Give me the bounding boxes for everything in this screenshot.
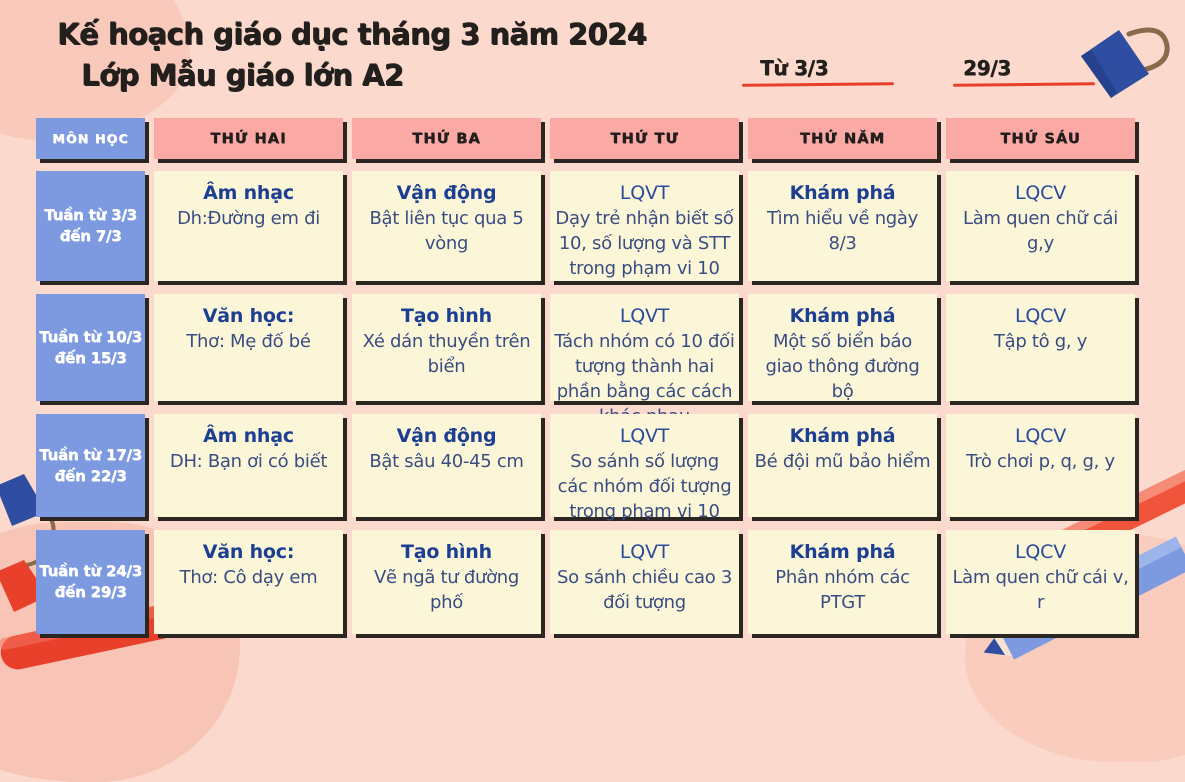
schedule-cell-body: Dạy trẻ nhận biết số 10, số lượng và STT… xyxy=(554,206,735,281)
schedule-cell-body: Tập tô g, y xyxy=(950,329,1131,354)
date-range-to-label: 29/3 xyxy=(963,56,1095,80)
schedule-cell-box: LQCVLàm quen chữ cái v, r xyxy=(946,530,1135,634)
header-cell-subject-label: MÔN HỌC xyxy=(52,131,129,146)
schedule-cell[interactable]: Khám pháBé đội mũ bảo hiểm xyxy=(748,414,937,517)
week-label-box: Tuần từ 17/3 đến 22/3 xyxy=(36,414,145,517)
date-range-from: Từ 3/3 xyxy=(760,56,894,86)
schedule-cell-title: Vận động xyxy=(356,424,537,449)
schedule-cell-body: Tìm hiểu về ngày 8/3 xyxy=(752,206,933,256)
schedule-cell-title: LQVT xyxy=(554,424,735,449)
header-cell-subject[interactable]: MÔN HỌC xyxy=(36,118,145,159)
page-title-line-2: Lớp Mẫu giáo lớn A2 xyxy=(81,55,646,96)
header-cell-day-box: THỨ NĂM xyxy=(748,118,937,159)
schedule-cell-body: So sánh chiều cao 3 đối tượng xyxy=(554,565,735,615)
week-label-text: Tuần từ 17/3 đến 22/3 xyxy=(36,445,145,487)
schedule-cell-box: LQVTTách nhóm có 10 đối tượng thành hai … xyxy=(550,294,739,401)
header-cell-day-box: THỨ SÁU xyxy=(946,118,1135,159)
schedule-cell-body: Bật sâu 40-45 cm xyxy=(356,449,537,474)
schedule-cell-box: LQCVLàm quen chữ cái g,y xyxy=(946,171,1135,281)
header-cell-day-3[interactable]: THỨ TƯ xyxy=(550,118,739,159)
week-label-text: Tuần từ 3/3 đến 7/3 xyxy=(36,205,145,247)
week-label-cell[interactable]: Tuần từ 24/3 đến 29/3 xyxy=(36,530,145,634)
schedule-cell[interactable]: Tạo hìnhVẽ ngã tư đường phố xyxy=(352,530,541,634)
schedule-cell-body: Phân nhóm các PTGT xyxy=(752,565,933,615)
schedule-cell-box: LQVTSo sánh số lượng các nhóm đối tượng … xyxy=(550,414,739,517)
week-label-text: Tuần từ 10/3 đến 15/3 xyxy=(36,327,145,369)
date-range-from-label: Từ 3/3 xyxy=(760,56,894,80)
row-gap xyxy=(36,281,1135,294)
schedule-cell-box: Văn học:Thơ: Mẹ đố bé xyxy=(154,294,343,401)
schedule-cell-body: Thơ: Mẹ đố bé xyxy=(158,329,339,354)
schedule-cell-box: Khám pháPhân nhóm các PTGT xyxy=(748,530,937,634)
schedule-cell[interactable]: Khám pháTìm hiểu về ngày 8/3 xyxy=(748,171,937,281)
header-cell-day-label: THỨ NĂM xyxy=(800,131,885,147)
schedule-cell[interactable]: Vận độngBật sâu 40-45 cm xyxy=(352,414,541,517)
schedule-cell-box: Khám pháMột số biển báo giao thông đường… xyxy=(748,294,937,401)
schedule-cell-title: LQCV xyxy=(950,181,1131,206)
schedule-cell-box: Vận độngBật liên tục qua 5 vòng xyxy=(352,171,541,281)
header-cell-day-box: THỨ TƯ xyxy=(550,118,739,159)
header-cell-day-label: THỨ HAI xyxy=(210,131,286,147)
schedule-cell-body: Dh:Đường em đi xyxy=(158,206,339,231)
table-header-row: MÔN HỌCTHỨ HAITHỨ BATHỨ TƯTHỨ NĂMTHỨ SÁU xyxy=(36,118,1135,159)
header-cell-day-1[interactable]: THỨ HAI xyxy=(154,118,343,159)
header-cell-day-2[interactable]: THỨ BA xyxy=(352,118,541,159)
schedule-cell-title: LQCV xyxy=(950,540,1131,565)
schedule-cell-title: Âm nhạc xyxy=(158,424,339,449)
week-label-box: Tuần từ 3/3 đến 7/3 xyxy=(36,171,145,281)
schedule-cell-title: Văn học: xyxy=(158,540,339,565)
schedule-cell[interactable]: Văn học:Thơ: Cô dạy em xyxy=(154,530,343,634)
schedule-cell-box: Tạo hìnhVẽ ngã tư đường phố xyxy=(352,530,541,634)
schedule-cell-box: LQCVTập tô g, y xyxy=(946,294,1135,401)
header-cell-day-box: THỨ HAI xyxy=(154,118,343,159)
schedule-cell-box: Vận độngBật sâu 40-45 cm xyxy=(352,414,541,517)
schedule-cell-box: Khám pháBé đội mũ bảo hiểm xyxy=(748,414,937,517)
schedule-cell[interactable]: LQVTSo sánh chiều cao 3 đối tượng xyxy=(550,530,739,634)
schedule-cell-title: LQVT xyxy=(554,181,735,206)
schedule-cell[interactable]: LQVTSo sánh số lượng các nhóm đối tượng … xyxy=(550,414,739,517)
schedule-cell-title: Khám phá xyxy=(752,424,933,449)
week-label-cell[interactable]: Tuần từ 3/3 đến 7/3 xyxy=(36,171,145,281)
schedule-table: MÔN HỌCTHỨ HAITHỨ BATHỨ TƯTHỨ NĂMTHỨ SÁU… xyxy=(36,118,1135,634)
date-range-to: 29/3 xyxy=(963,56,1095,86)
schedule-cell-body: Vẽ ngã tư đường phố xyxy=(356,565,537,615)
schedule-cell-title: Văn học: xyxy=(158,304,339,329)
header-cell-day-5[interactable]: THỨ SÁU xyxy=(946,118,1135,159)
schedule-cell-body: Trò chơi p, q, g, y xyxy=(950,449,1131,474)
header-cell-day-label: THỨ SÁU xyxy=(1000,131,1081,147)
schedule-cell-body: So sánh số lượng các nhóm đối tượng tron… xyxy=(554,449,735,524)
schedule-cell-body: DH: Bạn ơi có biết xyxy=(158,449,339,474)
table-row: Tuần từ 17/3 đến 22/3Âm nhạcDH: Bạn ơi c… xyxy=(36,414,1135,517)
schedule-cell[interactable]: LQVTDạy trẻ nhận biết số 10, số lượng và… xyxy=(550,171,739,281)
schedule-cell[interactable]: Khám pháMột số biển báo giao thông đường… xyxy=(748,294,937,401)
schedule-cell[interactable]: Tạo hìnhXé dán thuyền trên biển xyxy=(352,294,541,401)
header-cell-day-label: THỨ TƯ xyxy=(610,131,678,147)
schedule-cell-box: LQVTSo sánh chiều cao 3 đối tượng xyxy=(550,530,739,634)
schedule-cell-title: LQVT xyxy=(554,540,735,565)
table-row: Tuần từ 3/3 đến 7/3Âm nhạcDh:Đường em đi… xyxy=(36,171,1135,281)
schedule-cell-title: LQCV xyxy=(950,304,1131,329)
schedule-cell-title: LQVT xyxy=(554,304,735,329)
page-title-line-1: Kế hoạch giáo dục tháng 3 năm 2024 xyxy=(57,14,646,55)
schedule-cell-body: Xé dán thuyền trên biển xyxy=(356,329,537,379)
week-label-cell[interactable]: Tuần từ 10/3 đến 15/3 xyxy=(36,294,145,401)
schedule-cell[interactable]: Văn học:Thơ: Mẹ đố bé xyxy=(154,294,343,401)
week-label-text: Tuần từ 24/3 đến 29/3 xyxy=(36,561,145,603)
schedule-cell-box: Âm nhạcDh:Đường em đi xyxy=(154,171,343,281)
schedule-cell[interactable]: LQCVLàm quen chữ cái v, r xyxy=(946,530,1135,634)
header-cell-day-box: THỨ BA xyxy=(352,118,541,159)
schedule-cell-title: Khám phá xyxy=(752,540,933,565)
schedule-cell-title: Âm nhạc xyxy=(158,181,339,206)
schedule-cell-body: Một số biển báo giao thông đường bộ xyxy=(752,329,933,404)
schedule-cell[interactable]: Vận độngBật liên tục qua 5 vòng xyxy=(352,171,541,281)
schedule-cell[interactable]: Âm nhạcDh:Đường em đi xyxy=(154,171,343,281)
schedule-cell-title: Vận động xyxy=(356,181,537,206)
schedule-cell-box: LQCVTrò chơi p, q, g, y xyxy=(946,414,1135,517)
page-title: Kế hoạch giáo dục tháng 3 năm 2024 Lớp M… xyxy=(57,14,646,96)
table-row: Tuần từ 10/3 đến 15/3Văn học:Thơ: Mẹ đố … xyxy=(36,294,1135,401)
schedule-cell-title: Tạo hình xyxy=(356,540,537,565)
schedule-cell[interactable]: LQCVTrò chơi p, q, g, y xyxy=(946,414,1135,517)
schedule-cell-body: Bật liên tục qua 5 vòng xyxy=(356,206,537,256)
week-label-box: Tuần từ 24/3 đến 29/3 xyxy=(36,530,145,634)
schedule-cell-body: Làm quen chữ cái g,y xyxy=(950,206,1131,256)
schedule-cell-body: Bé đội mũ bảo hiểm xyxy=(752,449,933,474)
week-label-box: Tuần từ 10/3 đến 15/3 xyxy=(36,294,145,401)
schedule-cell-title: LQCV xyxy=(950,424,1131,449)
schedule-cell-box: LQVTDạy trẻ nhận biết số 10, số lượng và… xyxy=(550,171,739,281)
week-label-cell[interactable]: Tuần từ 17/3 đến 22/3 xyxy=(36,414,145,517)
schedule-cell[interactable]: LQCVLàm quen chữ cái g,y xyxy=(946,171,1135,281)
schedule-cell-body: Làm quen chữ cái v, r xyxy=(950,565,1131,615)
schedule-cell-box: Văn học:Thơ: Cô dạy em xyxy=(154,530,343,634)
schedule-cell[interactable]: LQVTTách nhóm có 10 đối tượng thành hai … xyxy=(550,294,739,401)
schedule-cell-title: Khám phá xyxy=(752,181,933,206)
header-cell-day-label: THỨ BA xyxy=(412,131,481,147)
schedule-cell[interactable]: Khám pháPhân nhóm các PTGT xyxy=(748,530,937,634)
schedule-cell-title: Khám phá xyxy=(752,304,933,329)
schedule-cell-box: Âm nhạcDH: Bạn ơi có biết xyxy=(154,414,343,517)
header-cell-subject-box: MÔN HỌC xyxy=(36,118,145,159)
table-row: Tuần từ 24/3 đến 29/3Văn học:Thơ: Cô dạy… xyxy=(36,530,1135,634)
header-cell-day-4[interactable]: THỨ NĂM xyxy=(748,118,937,159)
schedule-cell-body: Thơ: Cô dạy em xyxy=(158,565,339,590)
schedule-cell-box: Tạo hìnhXé dán thuyền trên biển xyxy=(352,294,541,401)
schedule-cell-box: Khám pháTìm hiểu về ngày 8/3 xyxy=(748,171,937,281)
schedule-cell-title: Tạo hình xyxy=(356,304,537,329)
schedule-cell[interactable]: LQCVTập tô g, y xyxy=(946,294,1135,401)
schedule-cell[interactable]: Âm nhạcDH: Bạn ơi có biết xyxy=(154,414,343,517)
